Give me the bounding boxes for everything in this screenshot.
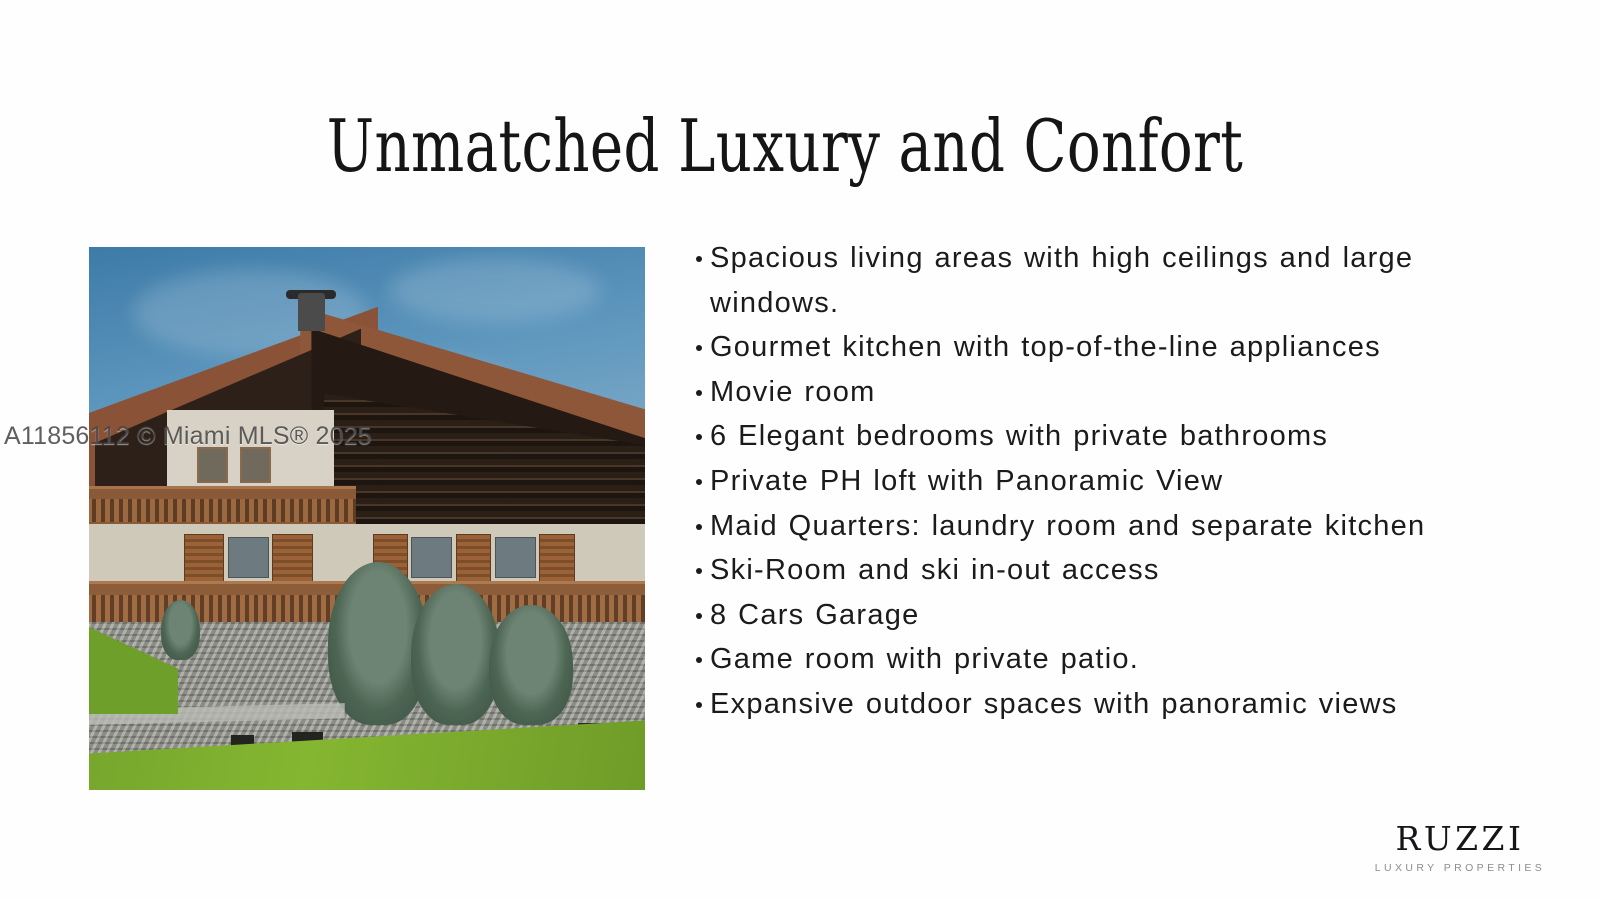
upper-balcony xyxy=(89,486,356,527)
window-glass xyxy=(411,537,452,579)
list-item: Gourmet kitchen with top-of-the-line app… xyxy=(678,325,1538,370)
presentation-slide: Unmatched Luxury and Confort xyxy=(0,0,1600,899)
window-glass xyxy=(495,537,536,579)
list-item: Expansive outdoor spaces with panoramic … xyxy=(678,682,1538,727)
window xyxy=(197,447,228,484)
list-item: Private PH loft with Panoramic View xyxy=(678,459,1538,504)
upper-stucco-wall xyxy=(167,410,334,491)
shutter xyxy=(272,534,313,583)
chimney xyxy=(298,293,326,331)
property-photo xyxy=(89,247,645,790)
features-list: Spacious living areas with high ceilings… xyxy=(678,236,1538,727)
list-item: Spacious living areas with high ceilings… xyxy=(678,236,1538,325)
list-item: 8 Cars Garage xyxy=(678,593,1538,638)
window-glass xyxy=(228,537,269,579)
conifer-tree xyxy=(161,600,200,660)
conifer-tree xyxy=(489,605,572,724)
list-item: Movie room xyxy=(678,370,1538,415)
cloud xyxy=(389,258,600,323)
shutter xyxy=(184,534,225,583)
list-item: Ski-Room and ski in-out access xyxy=(678,548,1538,593)
shutter xyxy=(539,534,574,583)
list-item: 6 Elegant bedrooms with private bathroom… xyxy=(678,414,1538,459)
shutter xyxy=(456,534,491,583)
list-item: Game room with private patio. xyxy=(678,637,1538,682)
chalet-illustration xyxy=(89,247,645,790)
conifer-tree xyxy=(411,584,500,725)
window xyxy=(240,447,271,484)
list-item: Maid Quarters: laundry room and separate… xyxy=(678,504,1538,549)
brand-tagline: LUXURY PROPERTIES xyxy=(1360,862,1560,874)
brand-logo: RUZZI LUXURY PROPERTIES xyxy=(1360,822,1560,874)
brand-name: RUZZI xyxy=(1360,822,1560,857)
page-title: Unmatched Luxury and Confort xyxy=(173,110,1398,182)
